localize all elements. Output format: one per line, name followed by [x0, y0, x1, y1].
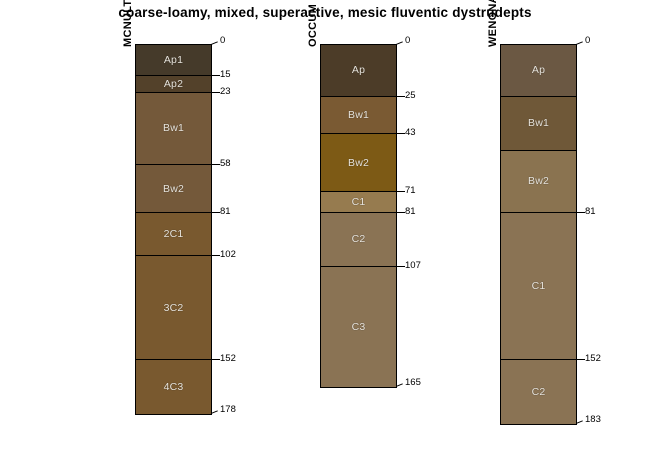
- depth-tick: [576, 421, 583, 425]
- soil-horizon: 3C2: [136, 256, 211, 360]
- depth-tick: [576, 359, 585, 360]
- soil-horizon: Ap1: [136, 45, 211, 76]
- depth-label: 152: [220, 354, 236, 364]
- soil-horizon: Ap: [501, 45, 576, 97]
- depth-tick: [211, 359, 220, 360]
- soil-horizon: Ap2: [136, 76, 211, 93]
- depth-tick: [211, 41, 218, 45]
- horizon-name: C3: [352, 321, 366, 333]
- horizon-name: Bw1: [163, 122, 184, 134]
- soil-horizon: C1: [321, 192, 396, 213]
- soil-horizon: 2C1: [136, 213, 211, 257]
- depth-label: 81: [220, 207, 231, 217]
- depth-label: 0: [405, 36, 410, 46]
- depth-tick: [396, 133, 405, 134]
- depth-label: 107: [405, 261, 421, 271]
- depth-label: 43: [405, 128, 416, 138]
- horizon-name: 3C2: [164, 302, 184, 314]
- horizon-name: Bw1: [348, 109, 369, 121]
- profile-column: ApBw1Bw2C1C2: [500, 44, 577, 425]
- soil-horizon: Bw2: [501, 151, 576, 213]
- profile-name-label: WENONAH: [487, 0, 499, 47]
- soil-horizon: Bw2: [321, 134, 396, 192]
- soil-horizon: C1: [501, 213, 576, 360]
- depth-tick: [576, 212, 585, 213]
- soil-horizon: C3: [321, 267, 396, 387]
- horizon-name: Ap2: [164, 78, 183, 90]
- page-title: coarse-loamy, mixed, superactive, mesic …: [0, 5, 650, 20]
- depth-tick: [211, 164, 220, 165]
- soil-horizon: Ap: [321, 45, 396, 97]
- depth-tick: [396, 191, 405, 192]
- depth-tick: [211, 255, 220, 256]
- profile-column: Ap1Ap2Bw1Bw22C13C24C3: [135, 44, 212, 415]
- depth-tick: [211, 212, 220, 213]
- soil-horizon: Bw1: [501, 97, 576, 151]
- horizon-name: Bw2: [163, 183, 184, 195]
- depth-label: 178: [220, 405, 236, 415]
- profile-column: ApBw1Bw2C1C2C3: [320, 44, 397, 388]
- depth-label: 81: [405, 207, 416, 217]
- horizon-name: 2C1: [164, 228, 184, 240]
- horizon-name: C1: [532, 280, 546, 292]
- depth-tick: [396, 383, 403, 387]
- horizon-name: 4C3: [164, 381, 184, 393]
- depth-tick: [576, 41, 583, 45]
- profile-name-label: OCCUM: [307, 4, 319, 47]
- depth-label: 58: [220, 159, 231, 169]
- soil-horizon: Bw1: [321, 97, 396, 134]
- horizon-name: C1: [352, 196, 366, 208]
- soil-horizon: C2: [321, 213, 396, 267]
- depth-label: 23: [220, 87, 231, 97]
- depth-label: 25: [405, 91, 416, 101]
- horizon-name: C2: [532, 386, 546, 398]
- horizon-name: Ap1: [164, 54, 183, 66]
- depth-tick: [396, 212, 405, 213]
- depth-tick: [211, 92, 220, 93]
- depth-label: 102: [220, 250, 236, 260]
- depth-label: 0: [220, 36, 225, 46]
- horizon-name: Ap: [352, 64, 365, 76]
- depth-label: 0: [585, 36, 590, 46]
- depth-tick: [396, 266, 405, 267]
- horizon-name: Bw2: [348, 157, 369, 169]
- depth-tick: [396, 41, 403, 45]
- depth-tick: [211, 410, 218, 414]
- depth-label: 152: [585, 354, 601, 364]
- depth-label: 183: [585, 415, 601, 425]
- soil-horizon: 4C3: [136, 360, 211, 414]
- horizon-name: C2: [352, 233, 366, 245]
- soil-horizon: C2: [501, 360, 576, 424]
- profile-name-label: MCNULTY: [122, 0, 134, 47]
- depth-label: 81: [585, 207, 596, 217]
- depth-label: 71: [405, 186, 416, 196]
- soil-horizon: Bw2: [136, 165, 211, 213]
- depth-label: 165: [405, 378, 421, 388]
- depth-tick: [396, 96, 405, 97]
- depth-label: 15: [220, 70, 231, 80]
- horizon-name: Ap: [532, 64, 545, 76]
- horizon-name: Bw1: [528, 117, 549, 129]
- depth-tick: [211, 75, 220, 76]
- soil-horizon: Bw1: [136, 93, 211, 166]
- horizon-name: Bw2: [528, 175, 549, 187]
- soil-profile-plot: coarse-loamy, mixed, superactive, mesic …: [0, 0, 650, 450]
